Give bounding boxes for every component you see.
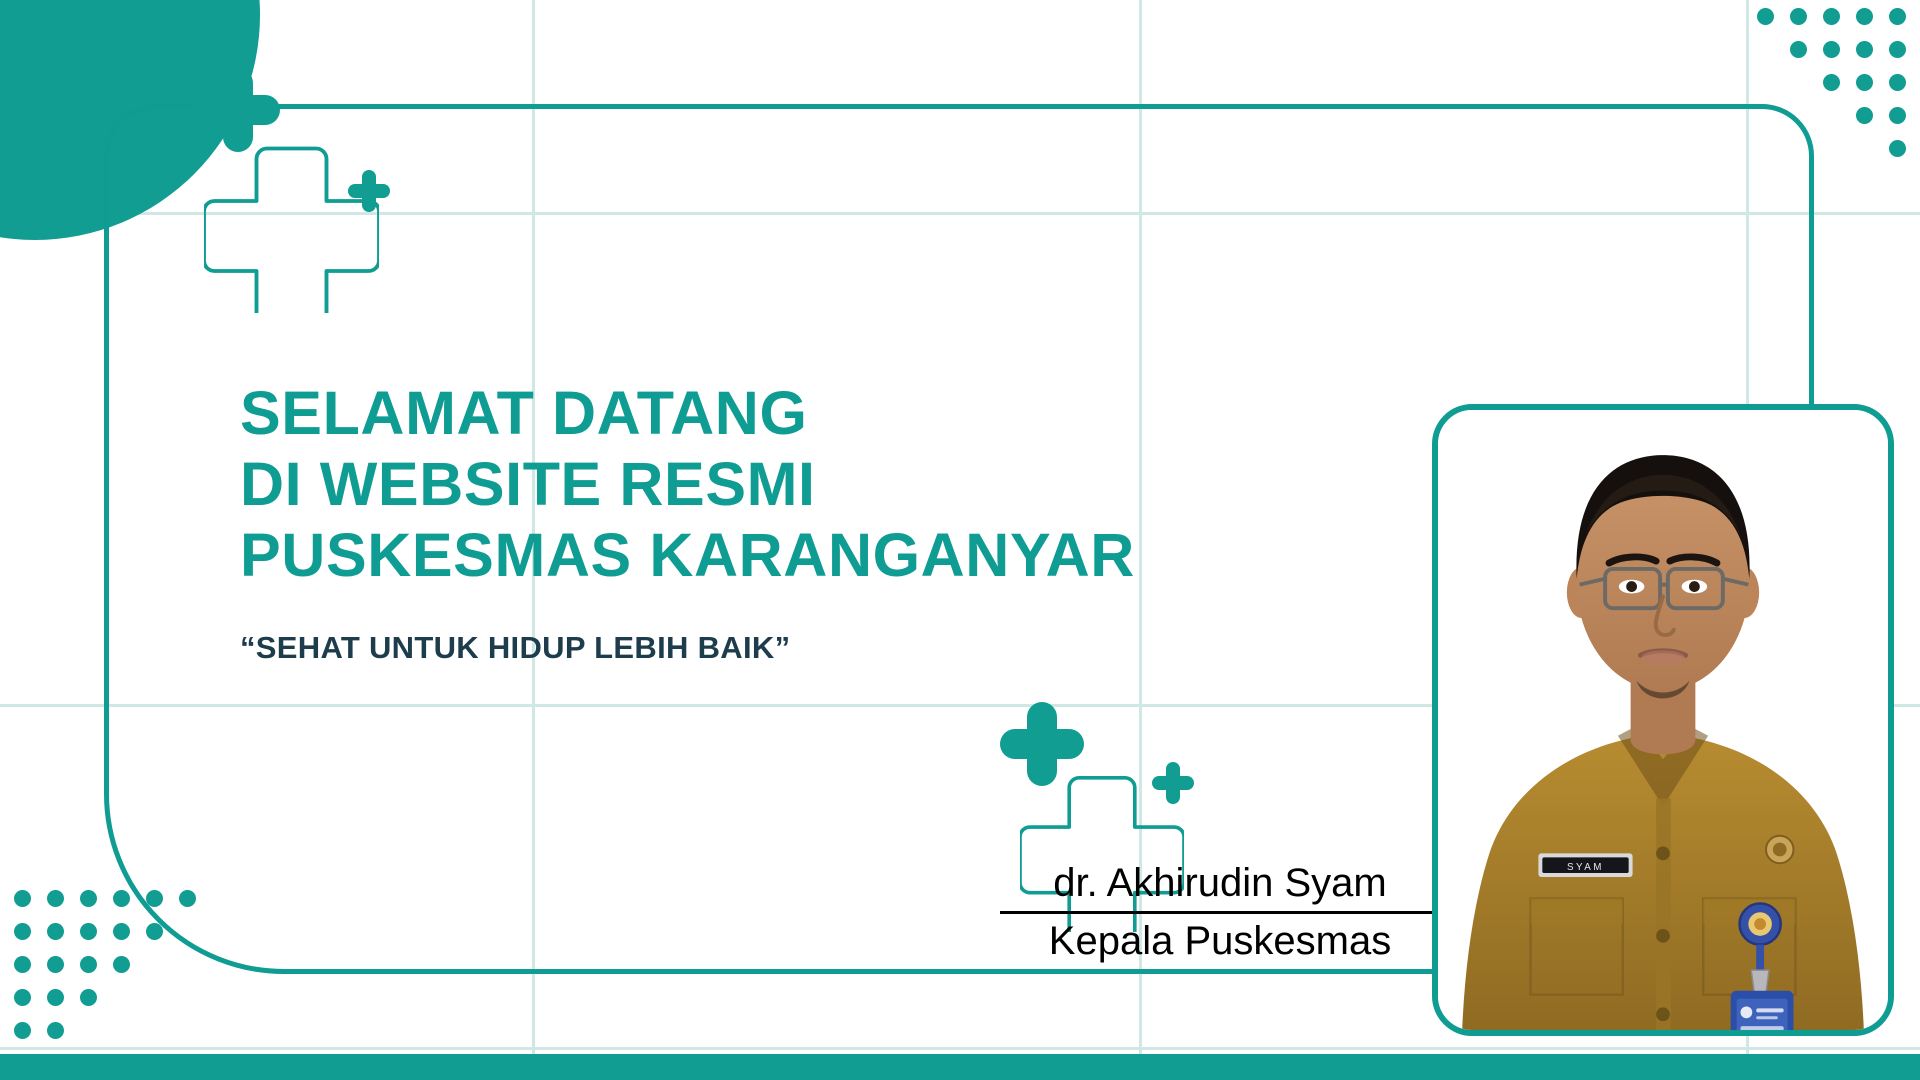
dot <box>1856 8 1873 25</box>
hero-tagline: “SEHAT UNTUK HIDUP LEBIH BAIK” <box>240 630 1420 666</box>
small-cross-icon <box>1152 762 1194 804</box>
signature-name: dr. Akhirudin Syam <box>1000 862 1440 914</box>
dot <box>1856 74 1873 91</box>
dot <box>1823 8 1840 25</box>
dot <box>14 890 31 907</box>
signature-block: dr. Akhirudin Syam Kepala Puskesmas <box>1000 862 1440 965</box>
dot <box>1823 74 1840 91</box>
dot <box>1790 41 1807 58</box>
dot <box>47 890 64 907</box>
dot <box>14 923 31 940</box>
grid-line-horizontal <box>0 1047 1920 1050</box>
svg-text:SYAM: SYAM <box>1567 862 1604 873</box>
dot <box>14 956 31 973</box>
dot <box>1823 41 1840 58</box>
bottom-accent-bar <box>0 1054 1920 1080</box>
signature-role: Kepala Puskesmas <box>1000 914 1440 965</box>
portrait-frame: SYAM <box>1432 404 1894 1036</box>
dot <box>47 1022 64 1039</box>
outline-cross-icon <box>204 138 379 313</box>
dot <box>80 890 97 907</box>
dot <box>1889 107 1906 124</box>
dot <box>1889 41 1906 58</box>
dot <box>1889 74 1906 91</box>
dot <box>1856 41 1873 58</box>
portrait-photo: SYAM <box>1438 410 1888 1030</box>
dot <box>80 989 97 1006</box>
slide-canvas: SELAMAT DATANG DI WEBSITE RESMI PUSKESMA… <box>0 0 1920 1080</box>
dot <box>14 1022 31 1039</box>
dot <box>1790 8 1807 25</box>
dot <box>80 923 97 940</box>
dot <box>80 956 97 973</box>
dot <box>47 923 64 940</box>
dot <box>1889 8 1906 25</box>
page-title: SELAMAT DATANG DI WEBSITE RESMI PUSKESMA… <box>240 378 1420 590</box>
small-cross-icon <box>348 170 390 212</box>
dot <box>113 923 130 940</box>
dot <box>113 956 130 973</box>
dot <box>113 890 130 907</box>
dot <box>1757 8 1774 25</box>
dot <box>14 989 31 1006</box>
dot <box>1856 107 1873 124</box>
hero-text-block: SELAMAT DATANG DI WEBSITE RESMI PUSKESMA… <box>240 378 1420 666</box>
dot <box>1889 140 1906 157</box>
dot <box>47 989 64 1006</box>
dot <box>47 956 64 973</box>
